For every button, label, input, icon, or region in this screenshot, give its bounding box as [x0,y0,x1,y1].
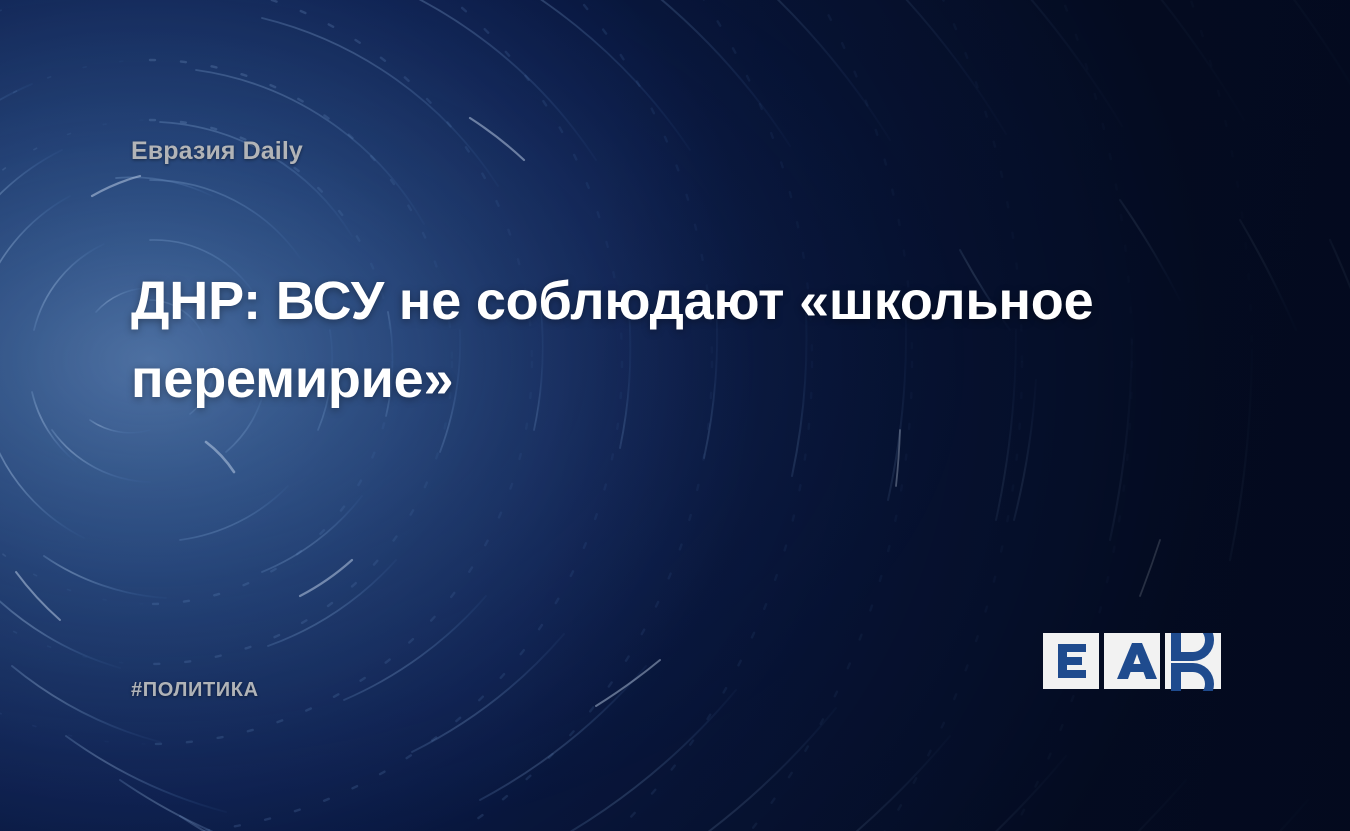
page-title: ДНР: ВСУ не соблюдают «школьное перемири… [131,262,1121,418]
news-share-card: Евразия Daily ДНР: ВСУ не соблюдают «шко… [0,0,1350,831]
card-content: Евразия Daily ДНР: ВСУ не соблюдают «шко… [0,0,1350,831]
category-tag: #ПОЛИТИКА [131,679,259,702]
logo-letter-e-icon [1058,644,1086,678]
brand-label: Евразия Daily [131,137,303,166]
eadaily-logo [1043,633,1221,691]
